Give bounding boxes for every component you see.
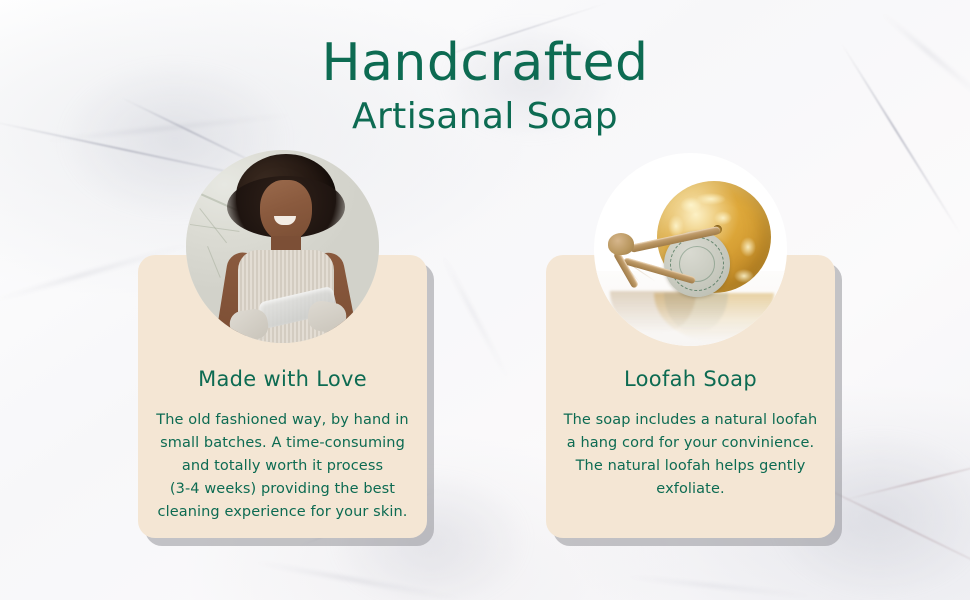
card-heading: Loofah Soap xyxy=(560,367,821,391)
soap-texture xyxy=(696,193,726,205)
loofah-soap-bar-photo xyxy=(594,153,787,346)
soap-texture xyxy=(740,237,756,257)
banner-subtitle: Artisanal Soap xyxy=(0,94,970,139)
card-body-text: The soap includes a natural loofah a han… xyxy=(560,409,821,501)
marble-vein xyxy=(620,575,819,598)
marble-vein xyxy=(439,251,512,385)
rope-knot xyxy=(608,233,634,255)
banner-heading-block: Handcrafted Artisanal Soap xyxy=(0,34,970,139)
banner-title: Handcrafted xyxy=(0,34,970,92)
card-body-text: The old fashioned way, by hand in small … xyxy=(152,409,413,524)
card-text-block: Loofah Soap The soap includes a natural … xyxy=(546,367,835,501)
soap-texture xyxy=(714,211,732,225)
card-text-block: Made with Love The old fashioned way, by… xyxy=(138,367,427,524)
product-banner: Handcrafted Artisanal Soap Made with Lov… xyxy=(0,0,970,600)
soap-texture xyxy=(734,269,754,283)
card-heading: Made with Love xyxy=(152,367,413,391)
face xyxy=(260,180,312,242)
woman-pouring-soap-photo xyxy=(186,150,379,343)
